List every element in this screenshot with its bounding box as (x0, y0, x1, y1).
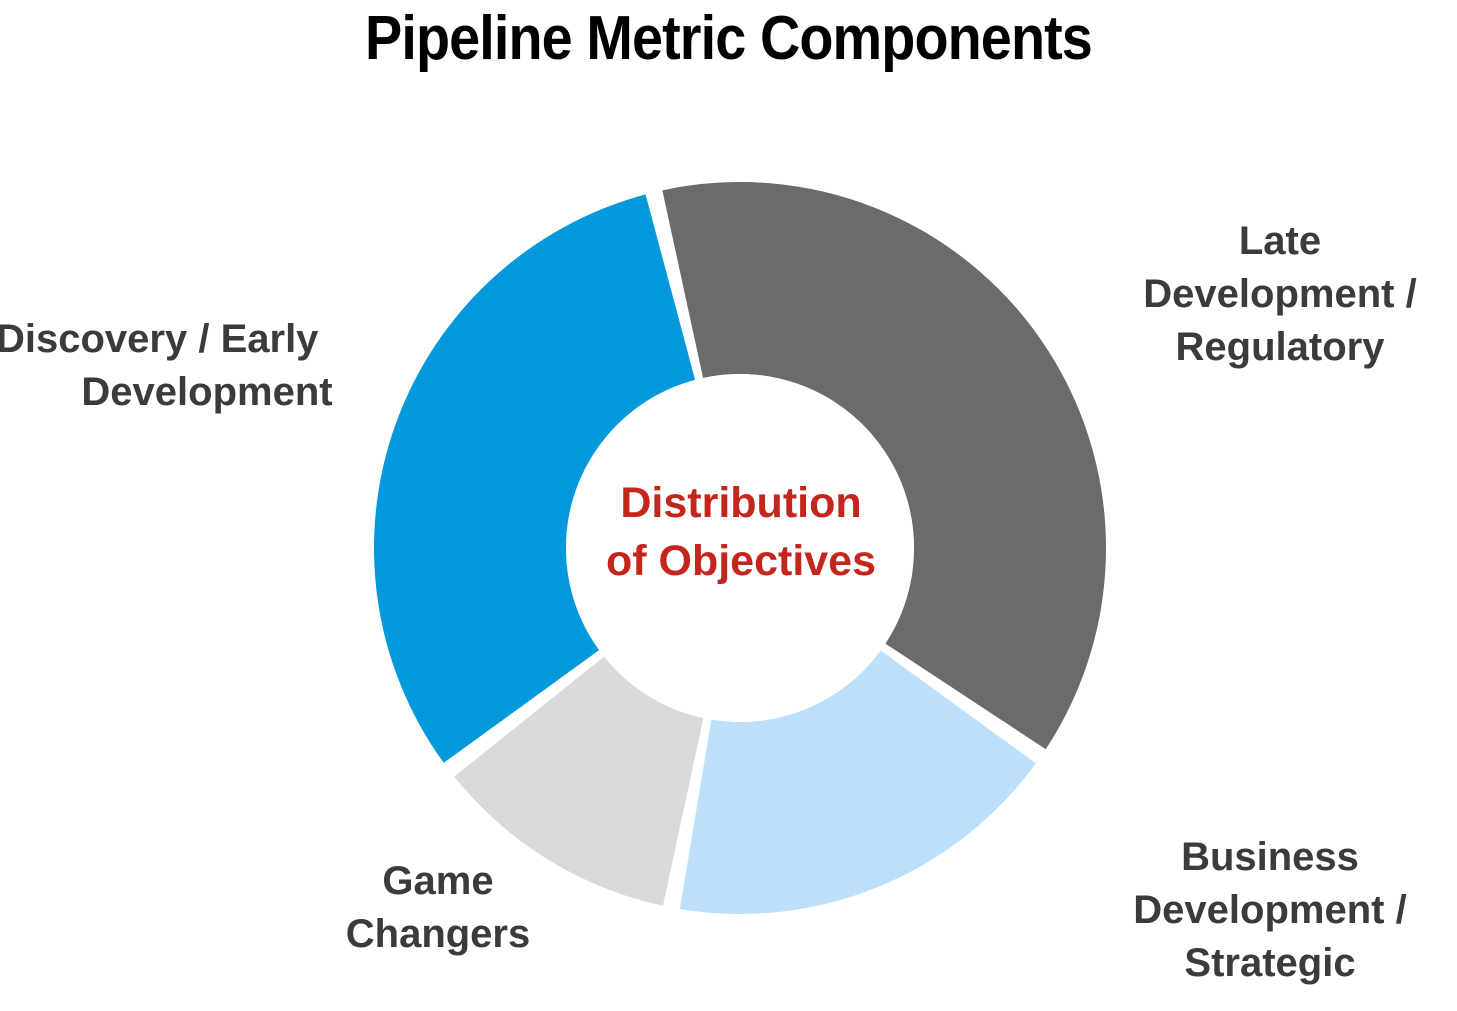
slice-label-business-line-1: Business (1090, 831, 1450, 884)
slice-label-late-line-3: Regulatory (1106, 321, 1454, 374)
slice-label-business-line-3: Strategic (1090, 937, 1450, 990)
slice-label-game-changers: Game Changers (278, 855, 598, 961)
slice-label-late-line-2: Development / (1106, 268, 1454, 321)
slice-label-game-line-1: Game (278, 855, 598, 908)
slice-label-late-line-1: Late (1106, 215, 1454, 268)
slice-label-late-development-regulatory: Late Development / Regulatory (1106, 215, 1454, 374)
slice-label-business-development-strategic: Business Development / Strategic (1090, 831, 1450, 990)
slice-label-game-line-2: Changers (278, 908, 598, 961)
donut-chart: Distribution of Objectives Discovery / E… (0, 0, 1457, 1011)
slice-label-discovery-line-2: Development (0, 366, 422, 419)
slice-label-discovery-early-development: Discovery / Early Development (0, 313, 422, 419)
slice-label-discovery-line-1: Discovery / Early (0, 313, 422, 366)
slice-label-business-line-2: Development / (1090, 884, 1450, 937)
donut-hole (566, 374, 914, 722)
